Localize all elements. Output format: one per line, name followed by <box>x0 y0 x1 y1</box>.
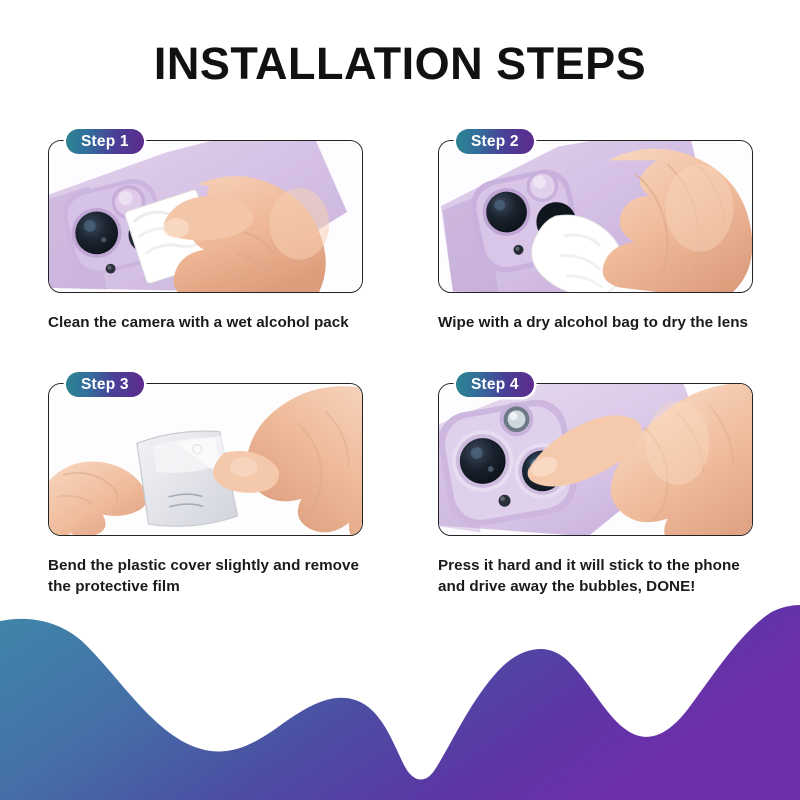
step-card-1 <box>48 140 363 293</box>
step-badge-4: Step 4 <box>456 372 534 397</box>
photo-illustration-clean-camera <box>49 141 362 292</box>
step-caption-4: Press it hard and it will stick to the p… <box>438 556 760 597</box>
step-caption-1: Clean the camera with a wet alcohol pack <box>48 313 368 334</box>
step-card-3 <box>48 383 363 536</box>
steps-grid: Step 1 Clean the camera with a wet alcoh… <box>0 140 800 650</box>
step-block-4: Step 4 Press it hard and it will stick t… <box>438 383 755 597</box>
step-photo-2 <box>439 141 752 292</box>
step-caption-3: Bend the plastic cover slightly and remo… <box>48 556 368 597</box>
step-badge-2: Step 2 <box>456 129 534 154</box>
step-block-3: Step 3 Bend the plastic cover slightly a… <box>48 383 365 597</box>
step-badge-3: Step 3 <box>66 372 144 397</box>
photo-illustration-dry-lens <box>439 141 752 292</box>
page-title: INSTALLATION STEPS <box>0 38 800 90</box>
photo-illustration-bend-cover <box>49 384 362 535</box>
step-photo-4 <box>439 384 752 535</box>
step-block-2: Step 2 Wipe with a dry alcohol bag to dr… <box>438 140 755 334</box>
step-card-4 <box>438 383 753 536</box>
step-caption-2: Wipe with a dry alcohol bag to dry the l… <box>438 313 760 334</box>
step-card-2 <box>438 140 753 293</box>
step-photo-1 <box>49 141 362 292</box>
step-badge-1: Step 1 <box>66 129 144 154</box>
step-block-1: Step 1 Clean the camera with a wet alcoh… <box>48 140 365 334</box>
step-photo-3 <box>49 384 362 535</box>
photo-illustration-press-protector <box>439 384 752 535</box>
